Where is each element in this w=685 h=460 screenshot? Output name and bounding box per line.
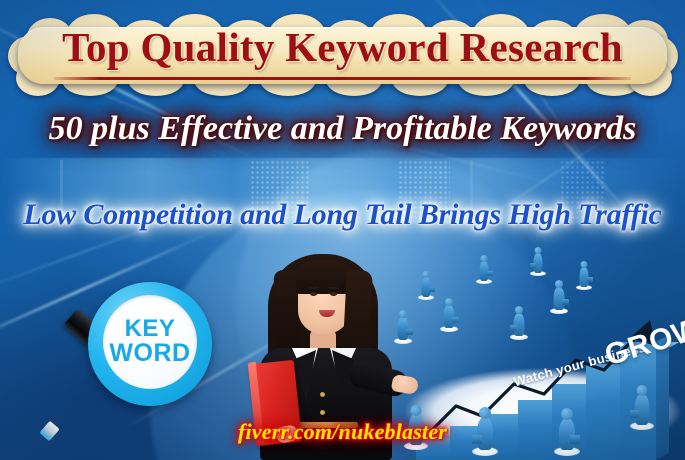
- footer-url: fiverr.com/nukeblaster: [0, 419, 685, 445]
- headline-secondary: 50 plus Effective and Profitable Keyword…: [0, 110, 685, 148]
- page-title: Top Quality Keyword Research: [8, 23, 677, 71]
- magnifier-label-key: KEY: [125, 317, 176, 341]
- blazer-button: [320, 392, 325, 397]
- title-underline: [54, 77, 631, 80]
- headline-tertiary: Low Competition and Long Tail Brings Hig…: [0, 198, 685, 232]
- eye-left: [310, 292, 317, 296]
- title-banner: Top Quality Keyword Research: [8, 14, 677, 96]
- magnifier-lens: KEY WORD: [103, 295, 197, 389]
- magnifier-label-word: WORD: [109, 341, 190, 367]
- blazer-button: [320, 410, 325, 415]
- eye-right: [330, 292, 337, 296]
- poster-canvas: Top Quality Keyword Research 50 plus Eff…: [0, 0, 685, 460]
- magnifier-ring: KEY WORD: [88, 282, 212, 406]
